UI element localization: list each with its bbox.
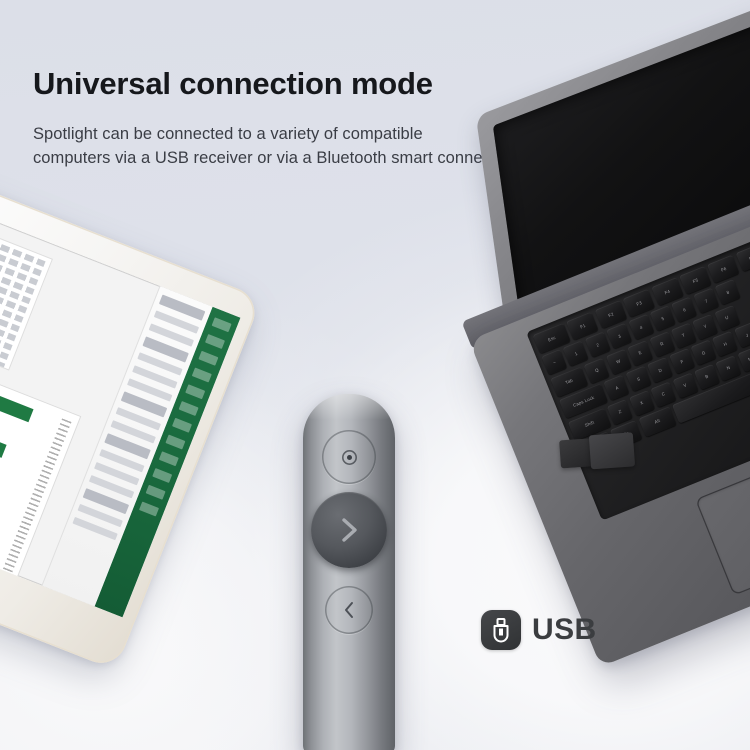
keyboard-key[interactable]: F xyxy=(669,348,695,374)
keyboard-key[interactable]: 6 xyxy=(672,297,698,323)
tablet-body xyxy=(0,177,262,670)
keyboard-key[interactable]: C xyxy=(650,381,676,407)
keyboard-key[interactable]: S xyxy=(625,366,651,392)
keyboard-key[interactable]: Q xyxy=(584,357,610,383)
chevron-left-icon xyxy=(341,600,357,620)
spotlight-presentation-remote xyxy=(303,394,395,750)
spreadsheet-data-grid xyxy=(0,223,53,371)
product-feature-graphic: Universal connection mode Spotlight can … xyxy=(0,0,750,750)
keyboard-key[interactable]: D xyxy=(647,357,673,383)
keyboard-key[interactable]: A xyxy=(604,375,630,401)
target-dot-icon xyxy=(342,450,357,465)
keyboard-key[interactable]: F7 xyxy=(735,243,750,272)
keyboard-key[interactable]: ~ xyxy=(541,349,567,375)
keyboard-key[interactable]: W xyxy=(606,349,632,375)
keyboard-key[interactable]: E xyxy=(627,340,653,366)
dongle-body xyxy=(589,432,635,469)
keyboard-key[interactable]: 2 xyxy=(585,332,611,358)
keyboard-key[interactable]: B xyxy=(694,363,720,389)
keyboard-key[interactable]: 5 xyxy=(650,306,676,332)
usb-badge-label: USB xyxy=(532,613,597,647)
keyboard-key[interactable]: T xyxy=(671,322,697,348)
spotlight-button[interactable] xyxy=(322,430,376,484)
chart-bar xyxy=(0,407,7,458)
keyboard-key[interactable]: 7 xyxy=(693,288,719,314)
keyboard-key[interactable]: H xyxy=(712,331,738,357)
keyboard-key[interactable]: J xyxy=(734,322,750,348)
keyboard-key[interactable]: Z xyxy=(607,399,633,425)
chevron-right-icon xyxy=(336,515,362,545)
chart-bar xyxy=(0,367,34,423)
keyboard-key[interactable]: 8 xyxy=(715,279,741,305)
keyboard-key[interactable]: 4 xyxy=(628,314,654,340)
keyboard-key[interactable]: G xyxy=(691,340,717,366)
tablet-device xyxy=(0,177,262,670)
keyboard-key[interactable]: 1 xyxy=(563,341,589,367)
previous-slide-button[interactable] xyxy=(325,586,373,634)
keyboard-key[interactable]: U xyxy=(714,305,740,331)
usb-drive-icon xyxy=(481,610,521,650)
usb-badge: USB xyxy=(481,610,597,650)
next-slide-button[interactable] xyxy=(311,492,387,568)
usb-receiver-dongle xyxy=(559,432,633,471)
keyboard-key[interactable]: V xyxy=(672,372,698,398)
keyboard-key[interactable]: N xyxy=(715,355,741,381)
keyboard-key[interactable]: R xyxy=(649,331,675,357)
keyboard-key[interactable]: Y xyxy=(692,314,718,340)
keyboard-key[interactable]: 3 xyxy=(606,323,632,349)
tablet-screen xyxy=(0,206,240,617)
keyboard-key[interactable]: X xyxy=(629,390,655,416)
